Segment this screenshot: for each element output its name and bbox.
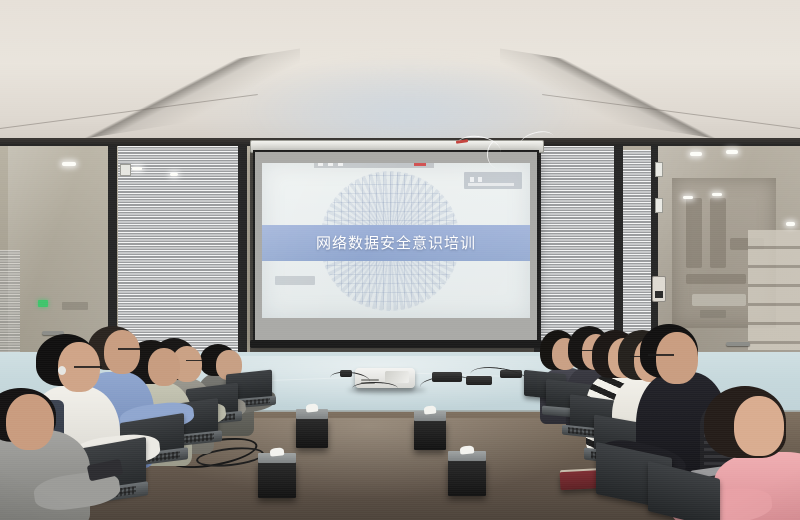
ceiling-spotlight: [170, 173, 178, 176]
glass-partition-left: [8, 146, 108, 354]
light-switch[interactable]: [655, 162, 663, 177]
tissue-box: [258, 462, 296, 498]
bookshelf: [748, 230, 800, 350]
glass-mullion: [238, 140, 247, 358]
screen-glare: [262, 163, 530, 318]
ceiling-spotlight: [726, 150, 738, 154]
ceiling-spotlight: [132, 167, 142, 170]
ceiling-spotlight: [712, 193, 722, 196]
window-blinds-left: [118, 146, 240, 354]
meeting-room-photo: 网络数据安全意识培训: [0, 0, 800, 520]
door-label: [62, 302, 88, 310]
door-label: [700, 310, 726, 318]
tissue-box: [414, 420, 446, 450]
exit-sign-icon: [38, 300, 48, 307]
ceiling-spotlight: [786, 222, 795, 226]
light-switch[interactable]: [655, 198, 663, 213]
door-handle[interactable]: [726, 342, 750, 346]
wall-sensor: [120, 164, 131, 176]
ceiling-spotlight: [683, 196, 693, 199]
tissue-box: [448, 460, 486, 496]
table-cable: [352, 382, 398, 395]
earbud: [58, 366, 66, 375]
glass-mullion: [108, 140, 117, 356]
tissue-box: [296, 418, 328, 448]
ceiling-spotlight: [62, 162, 76, 166]
projection-screen-weight-bar: [250, 340, 542, 348]
door-access-panel[interactable]: [652, 276, 666, 302]
ceiling-spotlight: [690, 152, 702, 156]
